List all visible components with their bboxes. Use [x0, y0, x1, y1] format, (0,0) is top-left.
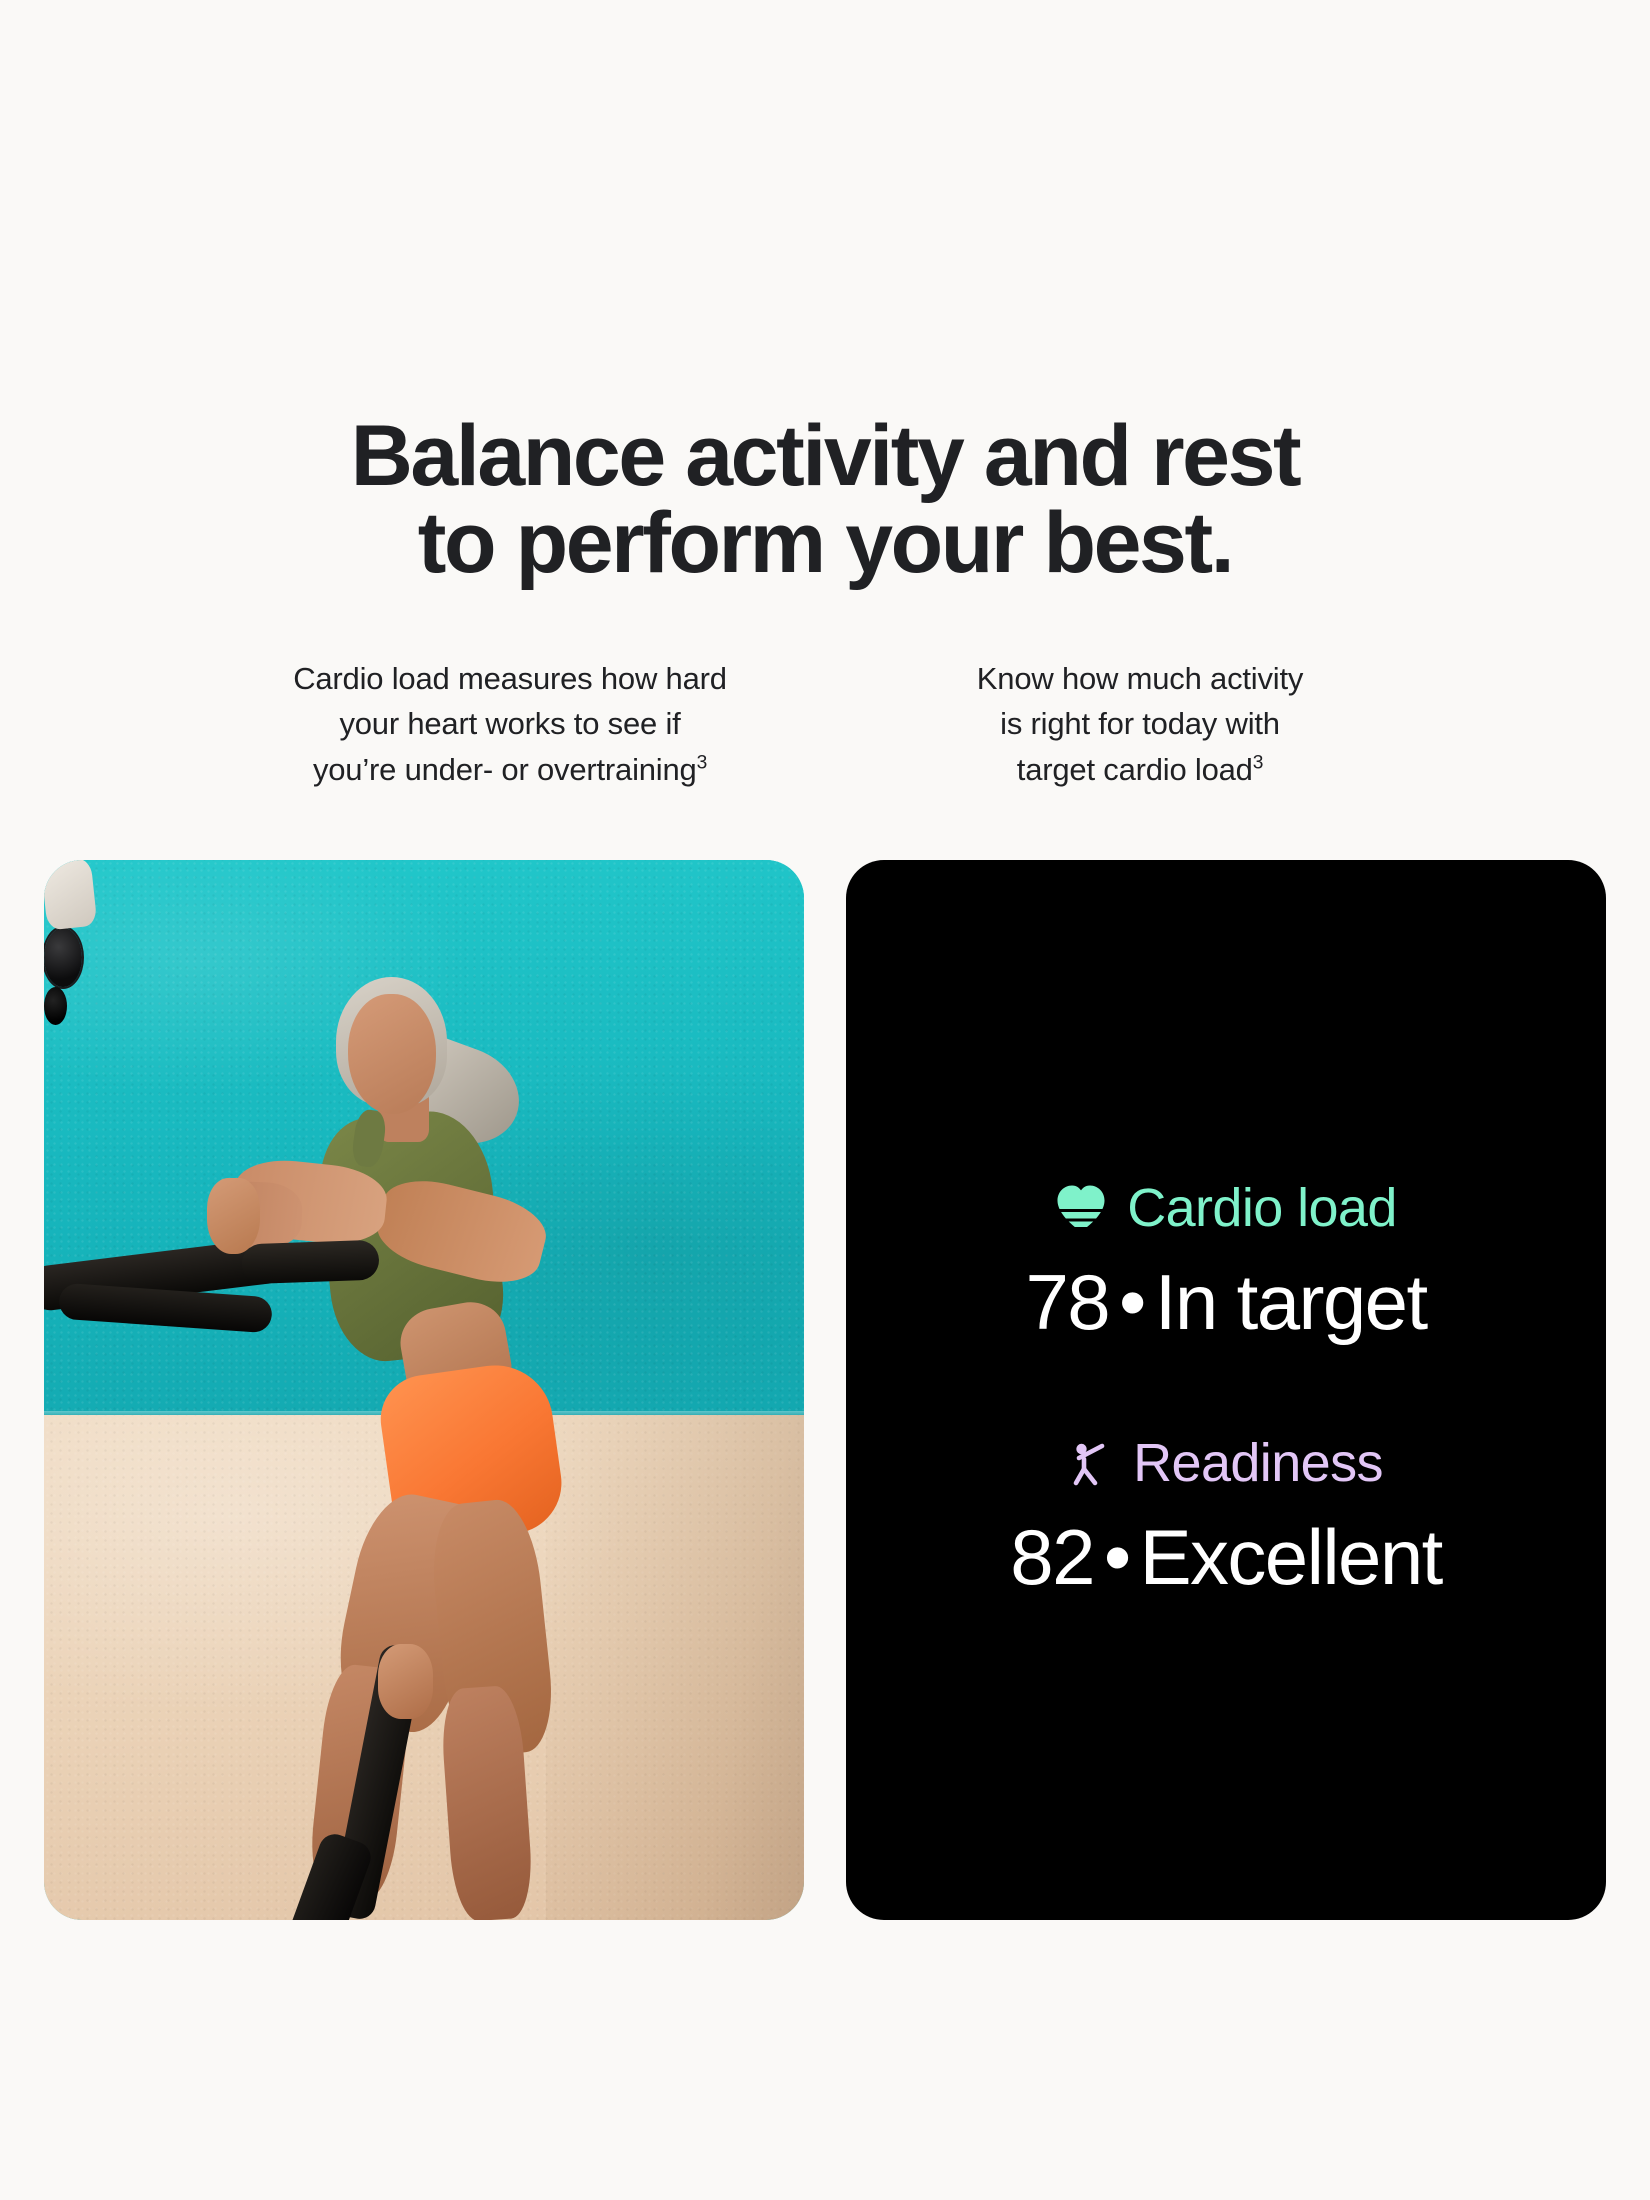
subhead-target-line-2: is right for today with	[1000, 706, 1280, 741]
watch-face	[44, 987, 67, 1025]
headline-line-1: Balance activity and rest	[351, 408, 1300, 504]
striped-heart-icon	[1055, 1183, 1107, 1233]
subhead-target-line-3: target cardio load	[1017, 752, 1253, 787]
readiness-separator: •	[1094, 1513, 1140, 1601]
watch-band	[44, 860, 98, 930]
cards-row: Cardio load 78•In target	[44, 860, 1606, 1920]
metric-cardio-load: Cardio load 78•In target	[846, 1177, 1606, 1348]
headline-line-2: to perform your best.	[0, 500, 1650, 588]
smartwatch	[44, 928, 82, 987]
metric-value-readiness: 82•Excellent	[846, 1512, 1606, 1603]
readiness-number: 82	[1010, 1513, 1094, 1601]
metric-label-readiness: Readiness	[1133, 1432, 1383, 1494]
cardio-load-status: In target	[1155, 1258, 1427, 1346]
cardio-load-number: 78	[1025, 1258, 1109, 1346]
readiness-status: Excellent	[1140, 1513, 1442, 1601]
cardio-load-separator: •	[1109, 1258, 1155, 1346]
metric-value-cardio-load: 78•In target	[846, 1257, 1606, 1348]
metric-readiness: Readiness 82•Excellent	[846, 1432, 1606, 1603]
metric-header-readiness: Readiness	[846, 1432, 1606, 1494]
footnote-marker: 3	[697, 752, 707, 773]
metric-header-cardio-load: Cardio load	[846, 1177, 1606, 1239]
subhead-cardio-line-2: your heart works to see if	[339, 706, 680, 741]
metric-label-cardio-load: Cardio load	[1127, 1177, 1397, 1239]
footnote-marker: 3	[1253, 752, 1263, 773]
face	[348, 994, 436, 1115]
stretching-person-icon	[1069, 1438, 1113, 1488]
subhead-columns: Cardio load measures how hard your heart…	[0, 625, 1650, 823]
right-hand	[378, 1644, 433, 1718]
subhead-target-line-1: Know how much activity	[977, 661, 1303, 696]
subhead-cardio-load: Cardio load measures how hard your heart…	[250, 656, 770, 792]
marketing-page: Balance activity and rest to perform you…	[0, 0, 1650, 2200]
left-hand	[207, 1178, 260, 1254]
athlete-figure	[44, 860, 804, 1920]
subhead-cardio-line-3: you’re under- or overtraining	[313, 752, 697, 787]
subhead-target-cardio-load: Know how much activity is right for toda…	[880, 656, 1400, 792]
page-title: Balance activity and rest to perform you…	[0, 413, 1650, 588]
battle-rope-upper-second	[58, 1283, 273, 1334]
lifestyle-photo-card	[44, 860, 804, 1920]
metrics-card: Cardio load 78•In target	[846, 860, 1606, 1920]
battle-rope-in-hand	[241, 1239, 379, 1284]
subhead-cardio-line-1: Cardio load measures how hard	[293, 661, 727, 696]
